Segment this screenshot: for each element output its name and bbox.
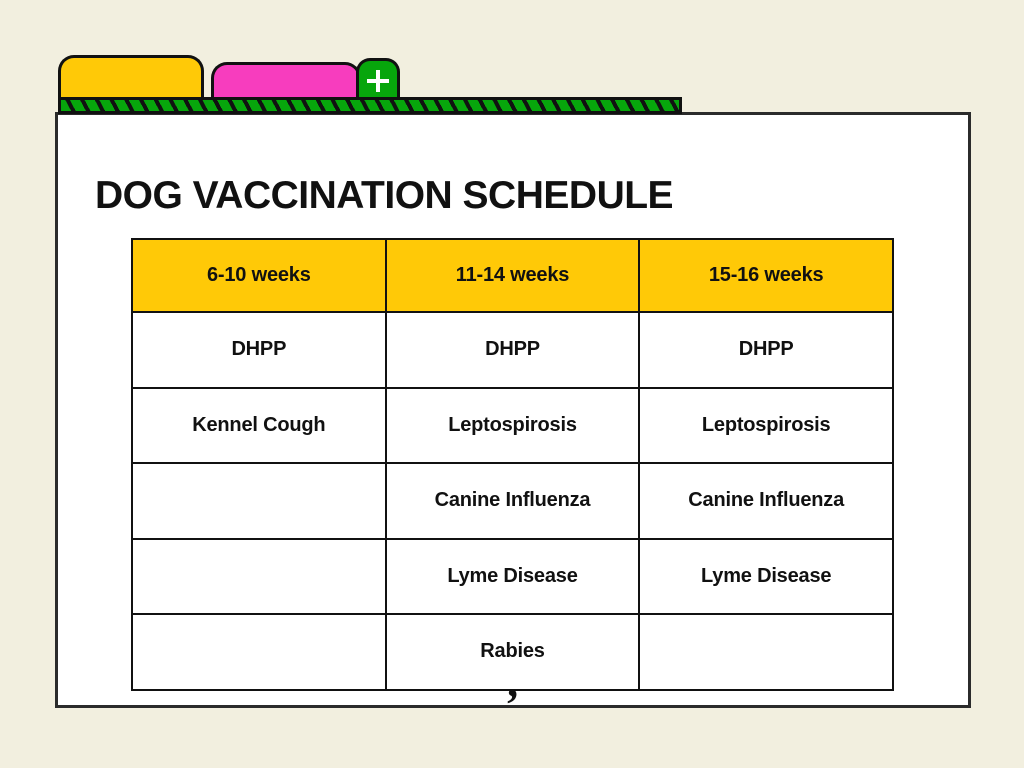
- vaccination-schedule-table: 6-10 weeks 11-14 weeks 15-16 weeks DHPP …: [131, 238, 894, 691]
- table-cell: Lyme Disease: [386, 539, 640, 615]
- table-cell: Canine Influenza: [639, 463, 893, 539]
- column-header-1: 11-14 weeks: [386, 239, 640, 312]
- table-row: Canine Influenza Canine Influenza: [132, 463, 893, 539]
- table-cell-empty: [132, 614, 386, 690]
- table-cell: Canine Influenza: [386, 463, 640, 539]
- table-cell: DHPP: [132, 312, 386, 388]
- table-row: Lyme Disease Lyme Disease: [132, 539, 893, 615]
- folder-tabs-row: [0, 0, 1024, 112]
- table-cell: Lyme Disease: [639, 539, 893, 615]
- bottom-comma-mark: ’: [505, 700, 519, 722]
- table-header-row: 6-10 weeks 11-14 weeks 15-16 weeks: [132, 239, 893, 312]
- table-cell-empty: [639, 614, 893, 690]
- table-header: 6-10 weeks 11-14 weeks 15-16 weeks: [132, 239, 893, 312]
- table-row: Kennel Cough Leptospirosis Leptospirosis: [132, 388, 893, 464]
- column-header-0: 6-10 weeks: [132, 239, 386, 312]
- table-cell: DHPP: [639, 312, 893, 388]
- table-cell: Leptospirosis: [386, 388, 640, 464]
- table-row: DHPP DHPP DHPP: [132, 312, 893, 388]
- table-cell: Kennel Cough: [132, 388, 386, 464]
- green-hatched-bar: [58, 97, 682, 114]
- folder-tab-yellow[interactable]: [58, 55, 204, 103]
- table-body: DHPP DHPP DHPP Kennel Cough Leptospirosi…: [132, 312, 893, 690]
- table-cell: Rabies: [386, 614, 640, 690]
- table-row: Rabies: [132, 614, 893, 690]
- table-cell-empty: [132, 539, 386, 615]
- table-cell-empty: [132, 463, 386, 539]
- table-cell: Leptospirosis: [639, 388, 893, 464]
- page-title: DOG VACCINATION SCHEDULE: [95, 174, 673, 218]
- table-cell: DHPP: [386, 312, 640, 388]
- column-header-2: 15-16 weeks: [639, 239, 893, 312]
